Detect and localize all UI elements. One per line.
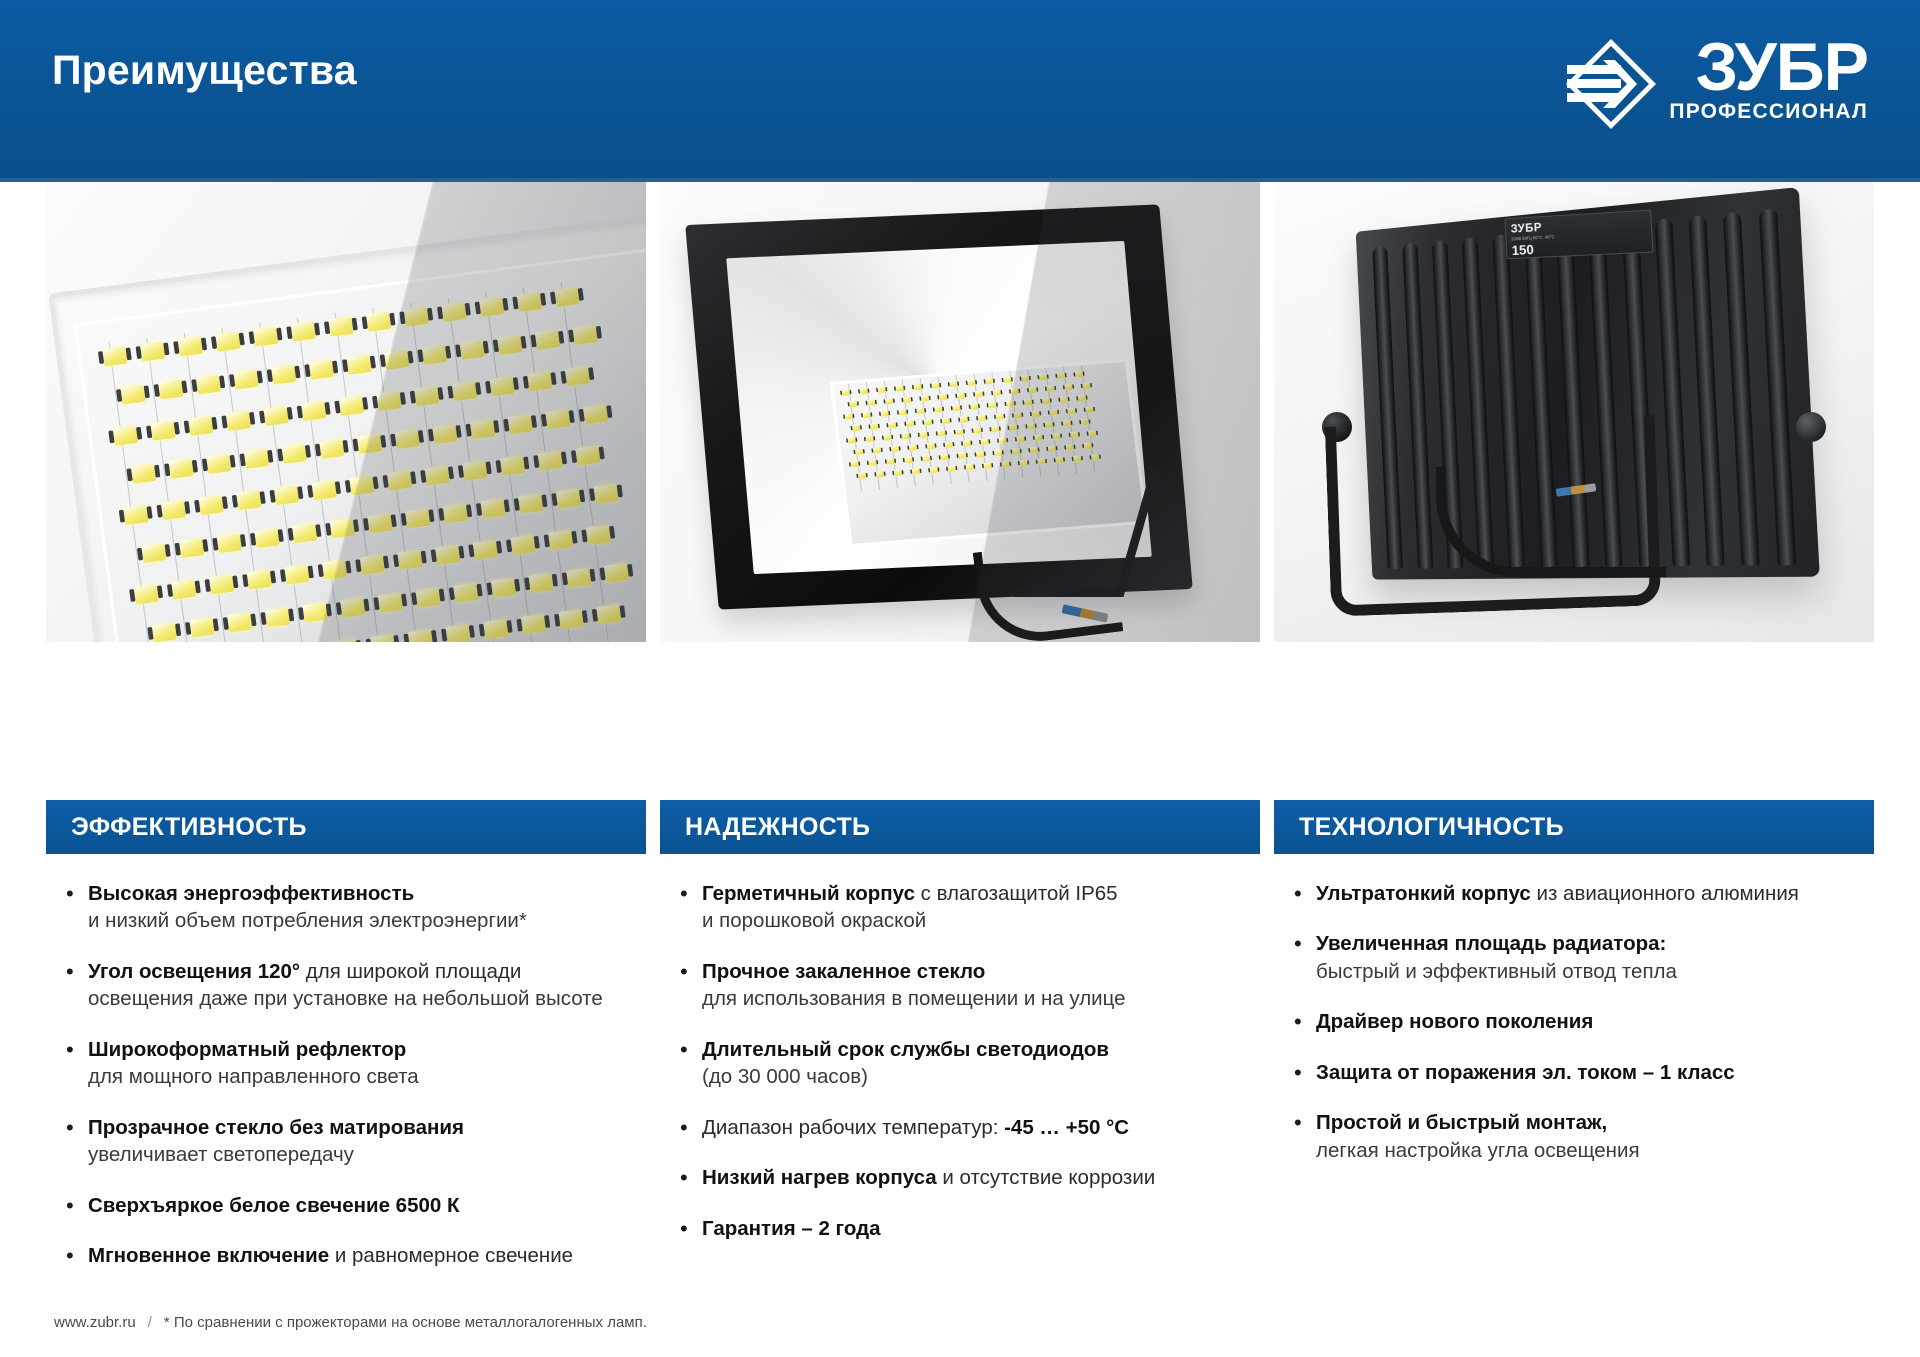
bullet-item: Диапазон рабочих температур: -45 … +50 °… bbox=[678, 1114, 1260, 1141]
pivot-knob-right bbox=[1796, 412, 1826, 442]
column-title: ЭФФЕКТИВНОСТЬ bbox=[71, 813, 307, 842]
footer-note: * По сравнении с прожекторами на основе … bbox=[164, 1314, 647, 1331]
bullet-item: Широкоформатный рефлектордля мощного нап… bbox=[64, 1036, 646, 1091]
photo-floodlight-front bbox=[660, 182, 1260, 642]
bullet-subtext: легкая настройка угла освещения bbox=[1316, 1137, 1874, 1164]
column-header-reliability: НАДЕЖНОСТЬ bbox=[660, 800, 1260, 854]
bullet-list-efficiency: Высокая энергоэффективностьи низкий объе… bbox=[46, 880, 646, 1270]
bullet-bold-text: Ультратонкий корпус bbox=[1316, 882, 1531, 905]
photo-floodlight-rear: ЗУБР 220В 50Гц 60°C -45°C 150 57141-150 bbox=[1274, 182, 1874, 642]
page-header: Преимущества ЗУБР ПРОФЕССИОНАЛ bbox=[0, 0, 1920, 182]
bullet-regular-text: для широкой площади bbox=[300, 960, 521, 983]
bullet-item: Длительный срок службы светодиодов(до 30… bbox=[678, 1036, 1260, 1091]
bullet-subtext: быстрый и эффективный отвод тепла bbox=[1316, 958, 1874, 985]
column-efficiency: ЭФФЕКТИВНОСТЬ Высокая энергоэффективност… bbox=[46, 800, 646, 1293]
bullet-regular-text: и равномерное свечение bbox=[329, 1244, 573, 1267]
bullet-subtext: освещения даже при установке на небольшо… bbox=[88, 985, 646, 1012]
bullet-bold-tail: -45 … +50 °C bbox=[1004, 1116, 1129, 1139]
product-rating-label: ЗУБР 220В 50Гц 60°C -45°C 150 57141-150 bbox=[1505, 210, 1654, 260]
bullet-item: Прозрачное стекло без матированияувеличи… bbox=[64, 1114, 646, 1169]
bullet-subtext: (до 30 000 часов) bbox=[702, 1063, 1260, 1090]
bullet-bold-text: Простой и быстрый монтаж, bbox=[1316, 1111, 1607, 1134]
footer-separator: / bbox=[148, 1314, 152, 1331]
bullet-item: Мгновенное включение и равномерное свече… bbox=[64, 1242, 646, 1269]
bullet-item: Низкий нагрев корпуса и отсутствие корро… bbox=[678, 1164, 1260, 1191]
heatsink-fin bbox=[1758, 208, 1795, 565]
page-footer: www.zubr.ru / * По сравнении с прожектор… bbox=[0, 1314, 1920, 1331]
bullet-regular-text: Диапазон рабочих температур: bbox=[702, 1116, 1004, 1139]
bullet-regular-text: и отсутствие коррозии bbox=[937, 1166, 1156, 1189]
photo-led-board-macro bbox=[46, 182, 646, 642]
column-header-technology: ТЕХНОЛОГИЧНОСТЬ bbox=[1274, 800, 1874, 854]
bullet-bold-text: Гарантия – 2 года bbox=[702, 1217, 880, 1240]
zubr-diamond-icon bbox=[1563, 36, 1659, 132]
bullet-item: Увеличенная площадь радиатора:быстрый и … bbox=[1292, 930, 1874, 985]
bullet-bold-text: Угол освещения 120° bbox=[88, 960, 300, 983]
bullet-subtext: увеличивает светопередачу bbox=[88, 1141, 646, 1168]
bullet-bold-text: Сверхъяркое белое свечение 6500 К bbox=[88, 1194, 459, 1217]
bullet-item: Гарантия – 2 года bbox=[678, 1215, 1260, 1242]
heatsink-fin bbox=[1723, 212, 1760, 566]
bullet-bold-text: Герметичный корпус bbox=[702, 882, 915, 905]
bullet-subtext: для мощного направленного света bbox=[88, 1063, 646, 1090]
bullet-item: Защита от поражения эл. током – 1 класс bbox=[1292, 1059, 1874, 1086]
slide-root: Преимущества ЗУБР ПРОФЕССИОНАЛ bbox=[0, 0, 1920, 1357]
bullet-bold-text: Высокая энергоэффективность bbox=[88, 882, 414, 905]
bullet-item: Драйвер нового поколения bbox=[1292, 1008, 1874, 1035]
bullet-item: Сверхъяркое белое свечение 6500 К bbox=[64, 1192, 646, 1219]
column-title: НАДЕЖНОСТЬ bbox=[685, 813, 870, 842]
footer-website[interactable]: www.zubr.ru bbox=[54, 1314, 136, 1331]
column-reliability: НАДЕЖНОСТЬ Герметичный корпус с влагозащ… bbox=[660, 800, 1260, 1293]
column-header-efficiency: ЭФФЕКТИВНОСТЬ bbox=[46, 800, 646, 854]
features-columns: ЭФФЕКТИВНОСТЬ Высокая энергоэффективност… bbox=[0, 800, 1920, 1293]
bullet-regular-text: из авиационного алюминия bbox=[1531, 882, 1799, 905]
logo-tagline: ПРОФЕССИОНАЛ bbox=[1669, 101, 1868, 122]
bullet-bold-text: Мгновенное включение bbox=[88, 1244, 329, 1267]
logo-wordmark: ЗУБР bbox=[1695, 36, 1868, 99]
bullet-item: Прочное закаленное стеклодля использован… bbox=[678, 958, 1260, 1013]
product-photo-row: ЗУБР 220В 50Гц 60°C -45°C 150 57141-150 bbox=[0, 182, 1920, 642]
column-technology: ТЕХНОЛОГИЧНОСТЬ Ультратонкий корпус из а… bbox=[1274, 800, 1874, 1293]
bullet-bold-text: Увеличенная площадь радиатора: bbox=[1316, 932, 1666, 955]
bullet-list-reliability: Герметичный корпус с влагозащитой IP65и … bbox=[660, 880, 1260, 1242]
bullet-bold-text: Широкоформатный рефлектор bbox=[88, 1038, 406, 1061]
bullet-regular-text: с влагозащитой IP65 bbox=[915, 882, 1118, 905]
brand-logo: ЗУБР ПРОФЕССИОНАЛ bbox=[1563, 36, 1868, 144]
bullet-item: Высокая энергоэффективностьи низкий объе… bbox=[64, 880, 646, 935]
page-title: Преимущества bbox=[52, 48, 357, 93]
bullet-item: Ультратонкий корпус из авиационного алюм… bbox=[1292, 880, 1874, 907]
bullet-bold-text: Защита от поражения эл. током – 1 класс bbox=[1316, 1061, 1735, 1084]
bullet-item: Простой и быстрый монтаж,легкая настройк… bbox=[1292, 1109, 1874, 1164]
bullet-subtext: и низкий объем потребления электроэнерги… bbox=[88, 907, 646, 934]
bullet-subtext: для использования в помещении и на улице bbox=[702, 985, 1260, 1012]
heatsink-fin bbox=[1689, 215, 1725, 566]
bullet-bold-text: Прочное закаленное стекло bbox=[702, 960, 985, 983]
bullet-bold-text: Низкий нагрев корпуса bbox=[702, 1166, 937, 1189]
bullet-subtext: и порошковой окраской bbox=[702, 907, 1260, 934]
bullet-item: Угол освещения 120° для широкой площадио… bbox=[64, 958, 646, 1013]
bullet-list-technology: Ультратонкий корпус из авиационного алюм… bbox=[1274, 880, 1874, 1164]
bullet-bold-text: Прозрачное стекло без матирования bbox=[88, 1116, 464, 1139]
power-cable-rear bbox=[1436, 467, 1666, 577]
bullet-item: Герметичный корпус с влагозащитой IP65и … bbox=[678, 880, 1260, 935]
column-title: ТЕХНОЛОГИЧНОСТЬ bbox=[1299, 813, 1564, 842]
bullet-bold-text: Длительный срок службы светодиодов bbox=[702, 1038, 1109, 1061]
bullet-bold-text: Драйвер нового поколения bbox=[1316, 1010, 1593, 1033]
